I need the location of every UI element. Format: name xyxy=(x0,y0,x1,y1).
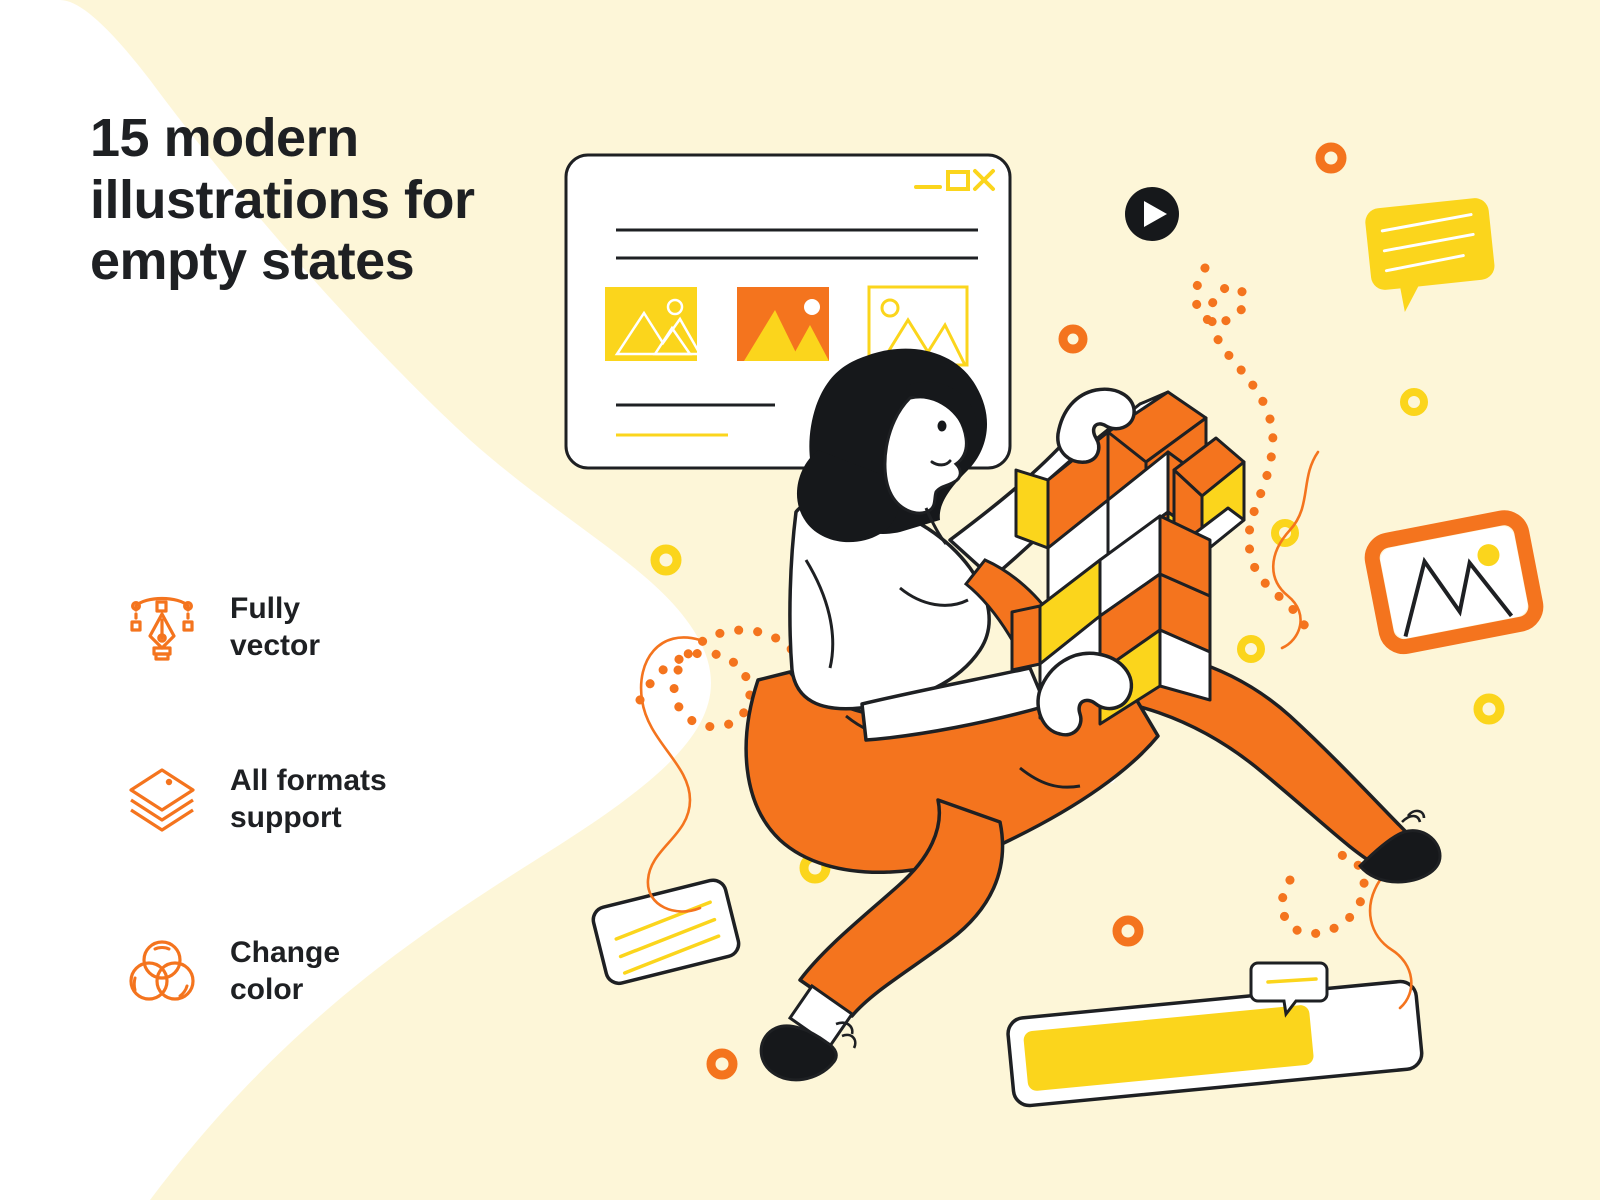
image-card-yellow-filled xyxy=(605,287,700,361)
play-button-badge[interactable] xyxy=(1125,187,1179,241)
eye xyxy=(938,421,947,432)
illustration-stage: 15 modern illustrations for empty states xyxy=(0,0,1600,1200)
artwork-canvas xyxy=(0,0,1600,1200)
image-card-orange-filled xyxy=(737,287,829,361)
